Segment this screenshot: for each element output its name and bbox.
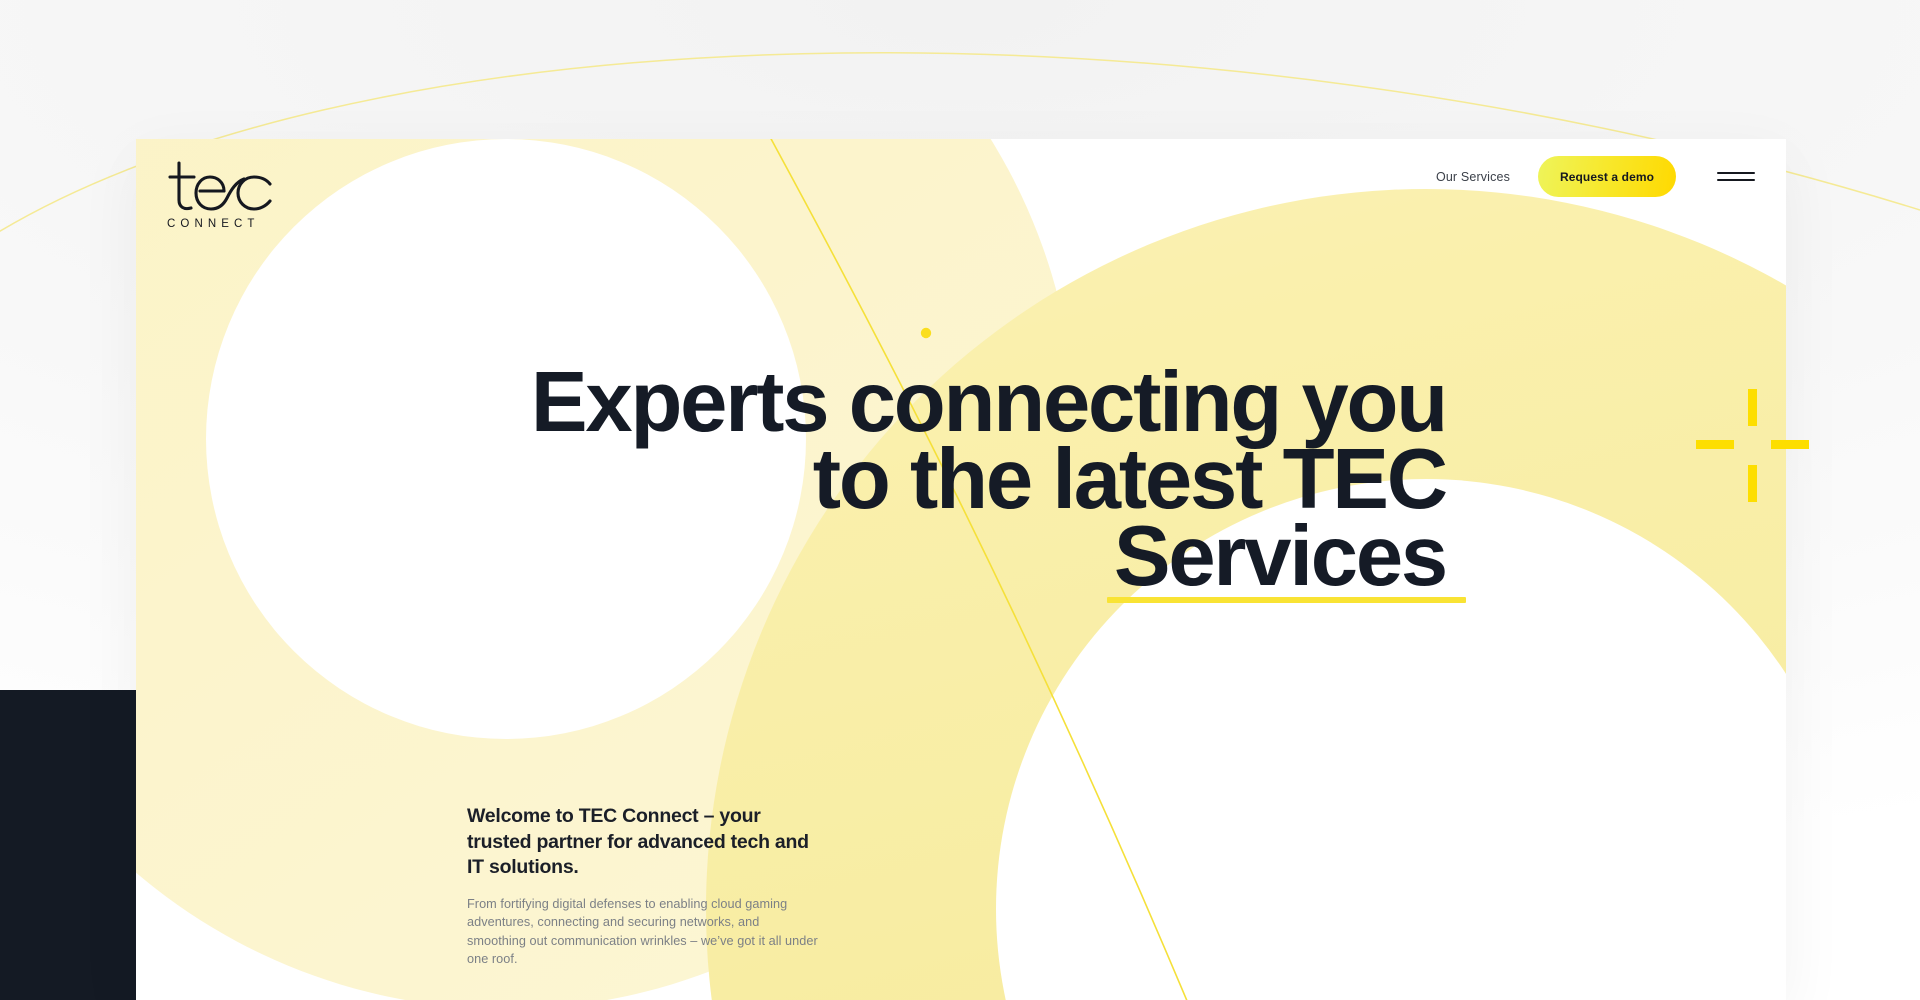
headline-underline-bar (1107, 597, 1466, 603)
arc-dot-marker (921, 328, 931, 338)
hero-card: CONNECT Our Services Request a demo Expe… (136, 139, 1786, 1000)
crosshair-bar-bottom (1748, 465, 1757, 502)
primary-nav: Our Services Request a demo (1436, 156, 1755, 197)
menu-bar-2 (1717, 179, 1755, 181)
crosshair-bar-right (1771, 440, 1809, 449)
headline-line-1: Experts connecting you (136, 364, 1446, 441)
crosshair-bar-top (1748, 389, 1757, 426)
tec-script-logo-icon (167, 160, 285, 216)
intro-block: Welcome to TEC Connect – your trusted pa… (467, 804, 819, 969)
brand-wordmark: CONNECT (167, 218, 299, 230)
hamburger-menu-icon[interactable] (1717, 164, 1755, 190)
nav-item-our-services[interactable]: Our Services (1436, 170, 1510, 184)
brand-logo[interactable]: CONNECT (167, 160, 299, 245)
crosshair-plus-icon (1696, 389, 1808, 501)
menu-bar-1 (1717, 172, 1755, 174)
site-header: CONNECT Our Services Request a demo (136, 139, 1786, 259)
intro-heading: Welcome to TEC Connect – your trusted pa… (467, 804, 819, 881)
hero-headline: Experts connecting you to the latest TEC… (136, 364, 1446, 595)
navy-accent-block (0, 690, 136, 1000)
headline-accent: Services (1114, 518, 1446, 595)
request-demo-button[interactable]: Request a demo (1538, 156, 1676, 197)
crosshair-bar-left (1696, 440, 1734, 449)
headline-line-3-wrapper: Services (136, 518, 1446, 595)
headline-line-3: Services (1114, 509, 1446, 604)
intro-paragraph: From fortifying digital defenses to enab… (467, 895, 819, 969)
headline-line-2: to the latest TEC (136, 441, 1446, 518)
